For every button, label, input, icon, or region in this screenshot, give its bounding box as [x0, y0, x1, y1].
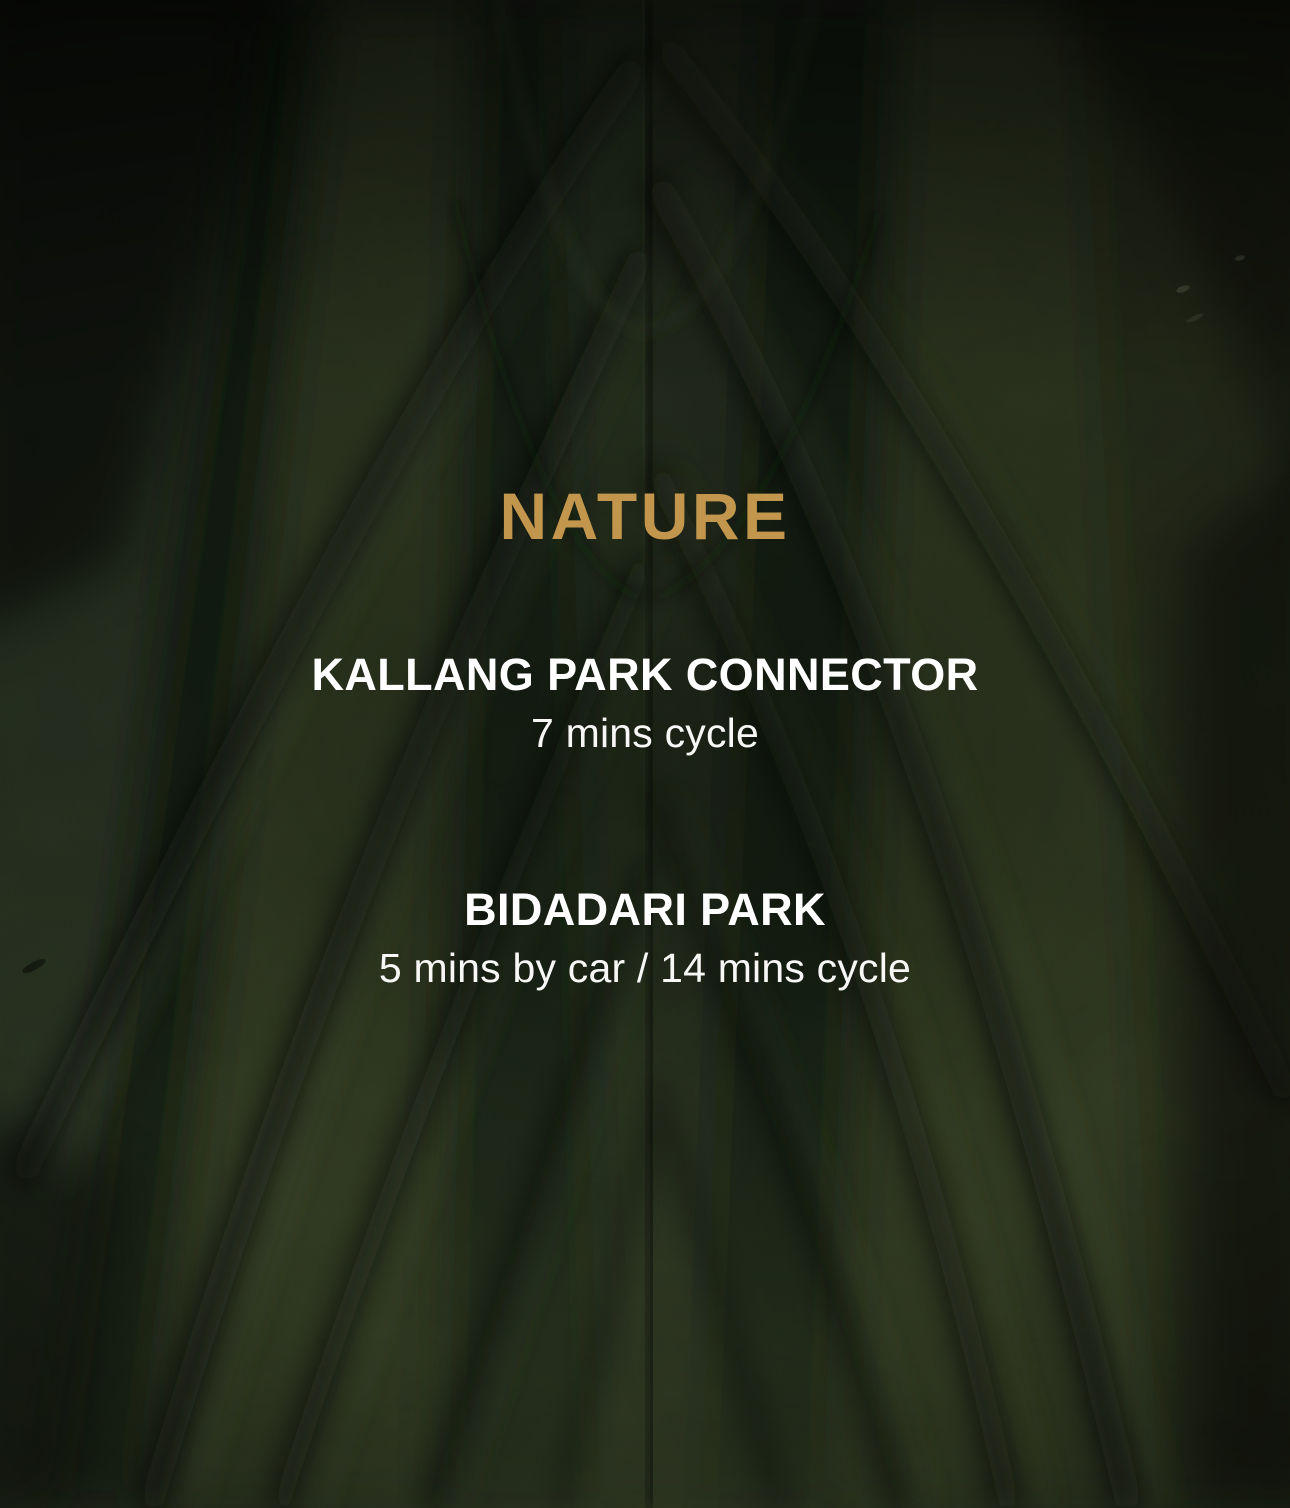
amenity-item: BIDADARI PARK 5 mins by car / 14 mins cy…: [0, 885, 1290, 992]
amenity-travel-time: 5 mins by car / 14 mins cycle: [0, 946, 1290, 992]
section-title: NATURE: [0, 483, 1290, 549]
nature-amenities-card: NATURE KALLANG PARK CONNECTOR 7 mins cyc…: [0, 0, 1290, 1508]
amenity-item: KALLANG PARK CONNECTOR 7 mins cycle: [0, 650, 1290, 757]
amenity-travel-time: 7 mins cycle: [0, 711, 1290, 757]
amenity-name: KALLANG PARK CONNECTOR: [0, 650, 1290, 700]
card-content: NATURE KALLANG PARK CONNECTOR 7 mins cyc…: [0, 0, 1290, 1508]
amenity-name: BIDADARI PARK: [0, 885, 1290, 935]
